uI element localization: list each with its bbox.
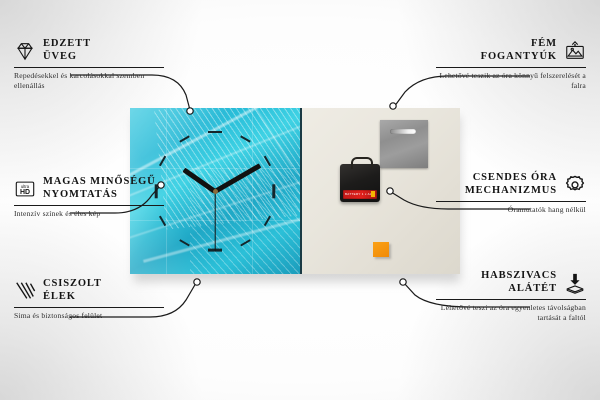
clock-hand-hub [213, 189, 218, 194]
second-hand [214, 191, 215, 251]
battery-terminal [371, 191, 375, 197]
feature-divider [436, 299, 586, 300]
feature-title: FÉM FOGANTYÚK [481, 38, 557, 63]
feature-title-line2: ALÁTÉT [481, 283, 557, 296]
feature-divider [14, 67, 164, 68]
mechanism-hook [351, 157, 373, 169]
feature-tempered-glass: EDZETT ÜVEG Repedésekkel és karcolásokka… [14, 38, 164, 90]
foam-spacer-pad [373, 242, 389, 257]
diamond-icon [14, 40, 36, 62]
feature-title: CSENDES ÓRA MECHANIZMUS [465, 172, 557, 197]
feature-header: EDZETT ÜVEG [14, 38, 164, 63]
infographic-canvas: BATTERY 1 x AA [0, 0, 600, 400]
feature-title-line1: CSISZOLT [43, 278, 102, 291]
product-image: BATTERY 1 x AA [130, 108, 460, 276]
feature-description: Intenzív színek és éles kép [14, 209, 164, 219]
battery-label: BATTERY 1 x AA [343, 190, 377, 199]
feature-polished-edges: CSISZOLT ÉLEK Sima és biztonságos felüle… [14, 278, 164, 321]
feature-title-line2: FOGANTYÚK [481, 51, 557, 64]
feature-divider [436, 201, 586, 202]
feature-header: ultra HD MAGAS MINŐSÉGŰ NYOMTATÁS [14, 176, 164, 201]
feature-title-line1: FÉM [481, 38, 557, 51]
clock-tick [180, 240, 190, 247]
feature-header: FÉM FOGANTYÚK [436, 38, 586, 63]
feature-header: HABSZIVACS ALÁTÉT [436, 270, 586, 295]
panel-seam [130, 168, 300, 169]
feature-description: Óramutatók hang nélkül [436, 205, 586, 215]
gear-icon [564, 174, 586, 196]
feature-description: Lehetővé teszik az óra könnyű felszerelé… [436, 71, 586, 90]
panel-seam [252, 108, 253, 274]
picture-frame-hanger-icon [564, 40, 586, 62]
feature-title: HABSZIVACS ALÁTÉT [481, 270, 557, 295]
feature-description: Lehetővé teszi az óra egyenletes távolsá… [436, 303, 586, 322]
feature-description: Repedésekkel és karcolásokkal szemben el… [14, 71, 164, 90]
feature-divider [14, 307, 164, 308]
svg-text:HD: HD [20, 189, 30, 196]
feature-header: CSENDES ÓRA MECHANIZMUS [436, 172, 586, 197]
feature-silent-clock-mechanism: CSENDES ÓRA MECHANIZMUS Óramutatók hang … [436, 172, 586, 215]
feature-title-line2: ÜVEG [43, 51, 91, 64]
quartz-mechanism: BATTERY 1 x AA [340, 164, 380, 202]
feature-title-line2: ÉLEK [43, 291, 102, 304]
clock-tick [208, 131, 222, 134]
ultra-hd-badge-icon: ultra HD [14, 178, 36, 200]
feature-title-line1: CSENDES ÓRA [465, 172, 557, 185]
feature-title-line2: MECHANIZMUS [465, 185, 557, 198]
feature-title: CSISZOLT ÉLEK [43, 278, 102, 303]
feature-title-line1: EDZETT [43, 38, 91, 51]
metal-hanger-plate [380, 120, 428, 168]
feature-title: MAGAS MINŐSÉGŰ NYOMTATÁS [43, 176, 156, 201]
feature-title-line1: HABSZIVACS [481, 270, 557, 283]
feature-metal-hangers: FÉM FOGANTYÚK Lehetővé teszik az óra kön… [436, 38, 586, 90]
feature-description: Sima és biztonságos felület [14, 311, 164, 321]
feature-title-line2: NYOMTATÁS [43, 189, 156, 202]
feature-title: EDZETT ÜVEG [43, 38, 91, 63]
hanger-slot [390, 129, 416, 134]
feature-title-line1: MAGAS MINŐSÉGŰ [43, 176, 156, 189]
feature-divider [436, 67, 586, 68]
diagonal-lines-icon [14, 280, 36, 302]
feature-divider [14, 205, 164, 206]
feature-foam-pad: HABSZIVACS ALÁTÉT Lehetővé teszi az óra … [436, 270, 586, 322]
panel-seam [166, 108, 167, 274]
arrow-down-pad-icon [564, 272, 586, 294]
battery-label-text: BATTERY 1 x AA [345, 192, 372, 196]
feature-high-quality-print: ultra HD MAGAS MINŐSÉGŰ NYOMTATÁS Intenz… [14, 176, 164, 219]
feature-header: CSISZOLT ÉLEK [14, 278, 164, 303]
clock-tick [273, 184, 276, 198]
